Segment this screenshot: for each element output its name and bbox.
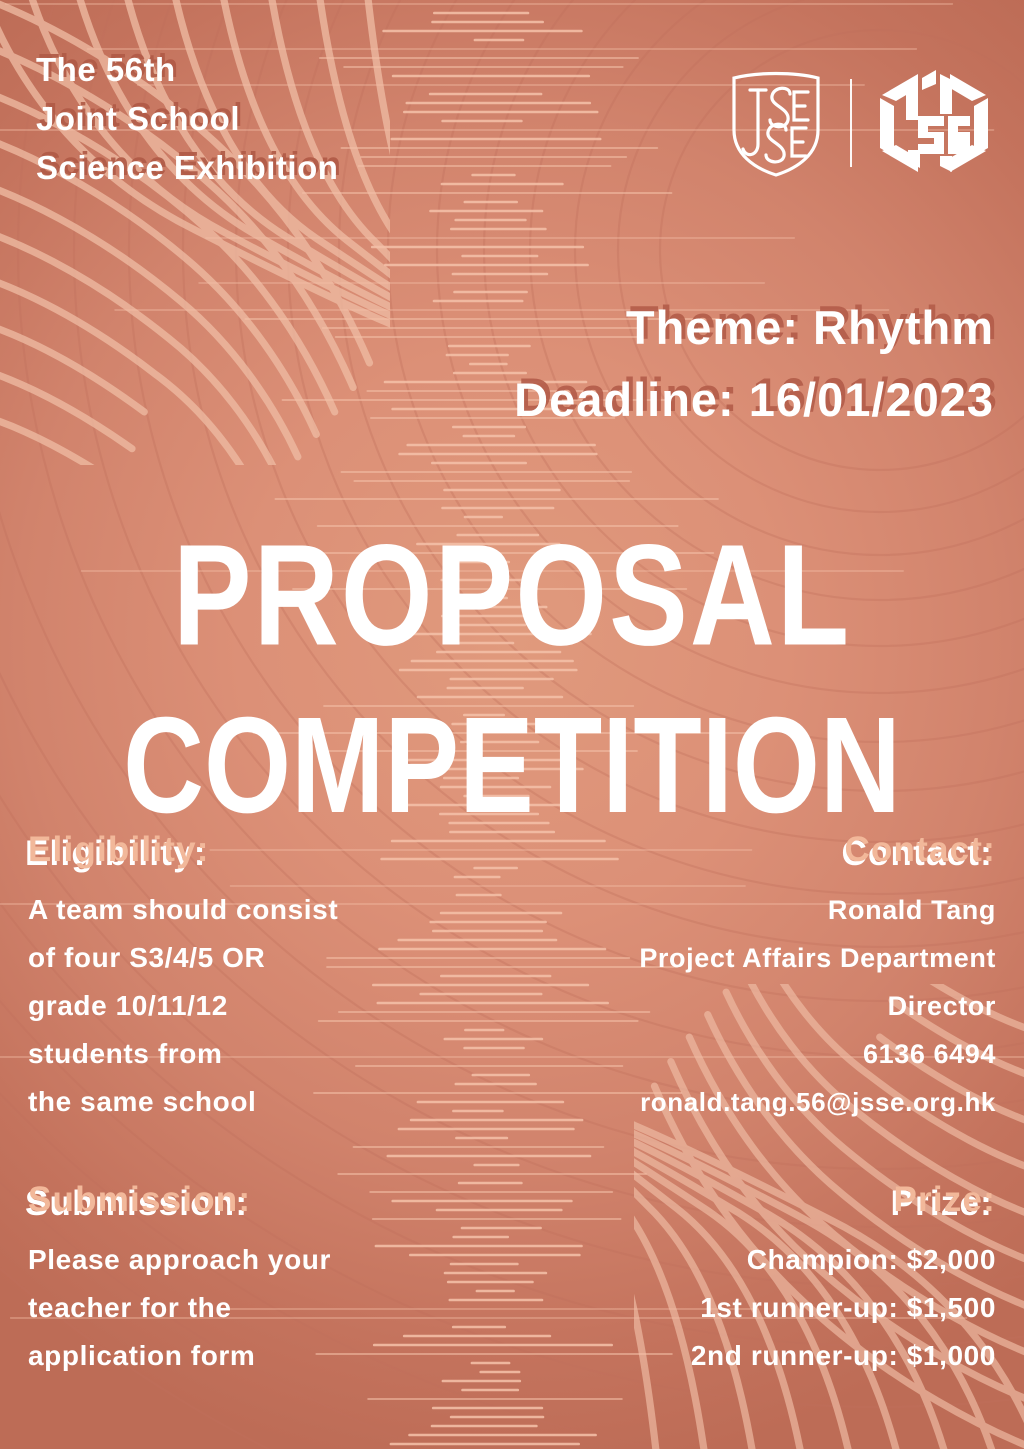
prize-section: Prize: Champion: $2,0001st runner-up: $1… [566,1178,996,1380]
info-line: 1st runner-up: $1,500 [566,1284,996,1332]
info-line: grade 10/11/12 [28,982,428,1030]
contact-body: Ronald TangProject Affairs DepartmentDir… [476,886,996,1126]
contact-heading: Contact: [476,828,996,872]
organisation-title: The 56th Joint School Science Exhibition [36,45,338,192]
info-line: of four S3/4/5 OR [28,934,428,982]
info-line: ronald.tang.56@jsse.org.hk [476,1078,996,1126]
submission-body: Please approach yourteacher for theappli… [28,1236,428,1380]
eligibility-heading: Eligibility: [28,828,428,872]
prize-heading: Prize: [566,1178,996,1222]
contact-section: Contact: Ronald TangProject Affairs Depa… [476,828,996,1126]
jsse-shield-logo [728,68,824,178]
theme-deadline-block: Theme: Rhythm Deadline: 16/01/2023 [514,292,994,436]
info-line: teacher for the [28,1284,428,1332]
info-line: Ronald Tang [476,886,996,934]
logo-divider [850,79,852,167]
jsse-56-hex-logo [878,68,990,178]
main-title: PROPOSAL COMPETITION [0,492,1024,832]
info-line: students from [28,1030,428,1078]
theme-line: Theme: Rhythm [514,292,994,364]
logo-group [728,68,990,178]
submission-section: Submission: Please approach yourteacher … [28,1178,428,1380]
poster-canvas: The 56th Joint School Science Exhibition [0,0,1024,1449]
info-line: Director [476,982,996,1030]
info-line: A team should consist [28,886,428,934]
info-line: 2nd runner-up: $1,000 [566,1332,996,1380]
submission-heading: Submission: [28,1178,428,1222]
eligibility-body: A team should consistof four S3/4/5 ORgr… [28,886,428,1126]
info-line: Please approach your [28,1236,428,1284]
eligibility-section: Eligibility: A team should consistof fou… [28,828,428,1126]
info-line: the same school [28,1078,428,1126]
info-line: Project Affairs Department [476,934,996,982]
deadline-line: Deadline: 16/01/2023 [514,364,994,436]
prize-body: Champion: $2,0001st runner-up: $1,5002nd… [566,1236,996,1380]
info-line: application form [28,1332,428,1380]
poster-header: The 56th Joint School Science Exhibition [0,0,1024,230]
info-line: 6136 6494 [476,1030,996,1078]
info-line: Champion: $2,000 [566,1236,996,1284]
